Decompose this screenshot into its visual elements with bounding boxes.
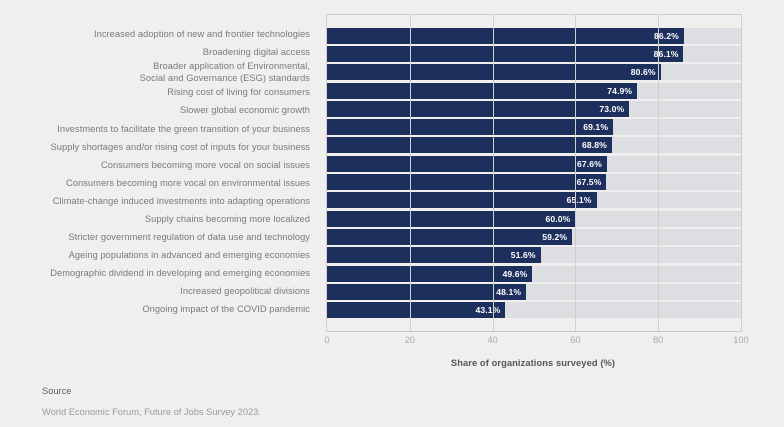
bar-value-label: 67.5%: [577, 177, 607, 187]
bar-value-label: 86.2%: [654, 31, 684, 41]
bar[interactable]: 73.0%: [327, 101, 629, 117]
bar-row: 67.5%: [327, 173, 741, 191]
bar-value-label: 73.0%: [599, 104, 629, 114]
category-label: Consumers becoming more vocal on social …: [101, 160, 310, 171]
bar-spacer: [327, 15, 741, 26]
bar[interactable]: 65.1%: [327, 192, 597, 208]
category-label: Ongoing impact of the COVID pandemic: [142, 304, 310, 315]
category-label-row: Ageing populations in advanced and emerg…: [0, 247, 318, 265]
bar-row: 60.0%: [327, 210, 741, 228]
category-label-row: Broadening digital access: [0, 43, 318, 61]
bar-value-label: 59.2%: [542, 232, 572, 242]
bar[interactable]: 86.1%: [327, 46, 683, 62]
category-label: Stricter government regulation of data u…: [68, 232, 310, 243]
bar-row: 43.1%: [327, 301, 741, 319]
bar[interactable]: 74.9%: [327, 83, 637, 99]
bar-row: 73.0%: [327, 100, 741, 118]
bar-value-label: 65.1%: [567, 195, 597, 205]
category-label-column: Increased adoption of new and frontier t…: [0, 14, 318, 330]
plot-area: 86.2%86.1%80.6%74.9%73.0%69.1%68.8%67.6%…: [326, 14, 742, 332]
bar-row: 49.6%: [327, 265, 741, 283]
x-axis-title: Share of organizations surveyed (%): [326, 358, 740, 368]
bar[interactable]: 67.6%: [327, 156, 607, 172]
category-label-row: Supply chains becoming more localized: [0, 210, 318, 228]
bar-row: 67.6%: [327, 155, 741, 173]
x-axis-tick-label: 80: [653, 335, 663, 345]
category-label: Broadening digital access: [203, 47, 310, 58]
category-label-row: Consumers becoming more vocal on environ…: [0, 174, 318, 192]
category-label-row: Supply shortages and/or rising cost of i…: [0, 138, 318, 156]
bar[interactable]: 86.2%: [327, 28, 684, 44]
bar-value-label: 48.1%: [496, 287, 526, 297]
category-label-row: Climate-change induced investments into …: [0, 192, 318, 210]
bar[interactable]: 51.6%: [327, 247, 541, 263]
bar[interactable]: 49.6%: [327, 266, 532, 282]
category-label-row: Rising cost of living for consumers: [0, 84, 318, 102]
bar-value-label: 68.8%: [582, 140, 612, 150]
x-axis-tick-label: 40: [487, 335, 497, 345]
bar-value-label: 74.9%: [607, 86, 637, 96]
bar[interactable]: 80.6%: [327, 64, 661, 80]
category-label: Broader application of Environmental, So…: [140, 61, 310, 84]
category-label-row: Demographic dividend in developing and e…: [0, 265, 318, 283]
source-text: World Economic Forum, Future of Jobs Sur…: [42, 407, 261, 417]
category-label: Increased adoption of new and frontier t…: [94, 29, 310, 40]
label-spacer: [0, 319, 318, 330]
label-spacer: [0, 14, 318, 25]
bar-row: 80.6%: [327, 63, 741, 81]
x-axis-tick-label: 0: [324, 335, 329, 345]
x-axis-tick-label: 20: [405, 335, 415, 345]
category-label-row: Stricter government regulation of data u…: [0, 228, 318, 246]
bar-row: 65.1%: [327, 191, 741, 209]
bar-spacer: [327, 320, 741, 331]
bar[interactable]: 68.8%: [327, 137, 612, 153]
bar[interactable]: 67.5%: [327, 174, 606, 190]
bar-row: 74.9%: [327, 81, 741, 99]
bar-row: 86.1%: [327, 45, 741, 63]
bar-row: 51.6%: [327, 246, 741, 264]
bar-value-label: 43.1%: [476, 305, 506, 315]
category-label: Supply chains becoming more localized: [145, 214, 310, 225]
category-label: Consumers becoming more vocal on environ…: [66, 178, 310, 189]
category-label-row: Ongoing impact of the COVID pandemic: [0, 301, 318, 319]
bar[interactable]: 59.2%: [327, 229, 572, 245]
bar[interactable]: 48.1%: [327, 284, 526, 300]
source-footer: Source World Economic Forum, Future of J…: [42, 386, 261, 417]
source-heading: Source: [42, 386, 261, 396]
bar-value-label: 51.6%: [511, 250, 541, 260]
bar-value-label: 60.0%: [546, 214, 576, 224]
category-label-row: Slower global economic growth: [0, 102, 318, 120]
bar[interactable]: 60.0%: [327, 211, 575, 227]
bar-row: 69.1%: [327, 118, 741, 136]
bar-value-label: 67.6%: [577, 159, 607, 169]
category-label: Investments to facilitate the green tran…: [57, 124, 310, 135]
bar-series: 86.2%86.1%80.6%74.9%73.0%69.1%68.8%67.6%…: [327, 15, 741, 331]
bar-row: 68.8%: [327, 136, 741, 154]
category-label: Climate-change induced investments into …: [53, 196, 310, 207]
bar-chart: Increased adoption of new and frontier t…: [0, 0, 784, 374]
category-label-row: Investments to facilitate the green tran…: [0, 120, 318, 138]
bar-value-label: 49.6%: [502, 269, 532, 279]
bar-row: 48.1%: [327, 283, 741, 301]
x-axis: 020406080100: [326, 331, 742, 351]
bar-value-label: 86.1%: [654, 49, 684, 59]
category-label-row: Broader application of Environmental, So…: [0, 61, 318, 84]
category-label: Supply shortages and/or rising cost of i…: [51, 142, 310, 153]
category-label-row: Consumers becoming more vocal on social …: [0, 156, 318, 174]
x-axis-tick-label: 60: [570, 335, 580, 345]
bar[interactable]: 43.1%: [327, 302, 505, 318]
bar-row: 86.2%: [327, 26, 741, 44]
bar-value-label: 69.1%: [583, 122, 613, 132]
bar-value-label: 80.6%: [631, 67, 661, 77]
category-label: Rising cost of living for consumers: [167, 87, 310, 98]
category-label: Ageing populations in advanced and emerg…: [69, 250, 310, 261]
x-axis-tick-label: 100: [733, 335, 749, 345]
bar[interactable]: 69.1%: [327, 119, 613, 135]
category-label-row: Increased geopolitical divisions: [0, 283, 318, 301]
category-label: Slower global economic growth: [180, 105, 310, 116]
category-label: Increased geopolitical divisions: [180, 286, 310, 297]
bar-row: 59.2%: [327, 228, 741, 246]
category-label-row: Increased adoption of new and frontier t…: [0, 25, 318, 43]
category-label: Demographic dividend in developing and e…: [50, 268, 310, 279]
